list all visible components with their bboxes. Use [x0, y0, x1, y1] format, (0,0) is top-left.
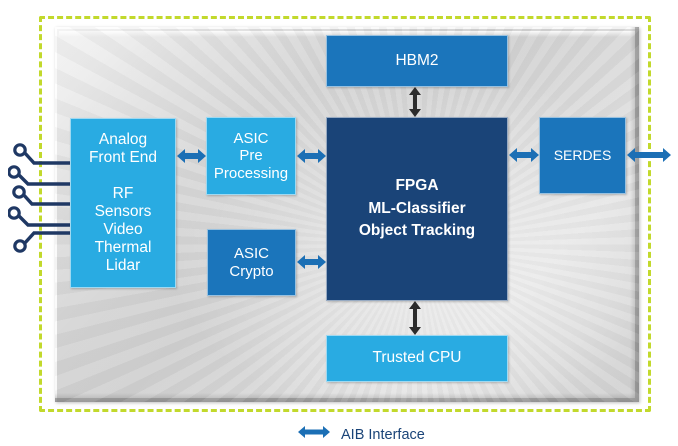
block-serdes[interactable]: SERDES [539, 117, 626, 194]
arrow-hbm2-to-fpga-icon [407, 86, 423, 118]
block-label-trusted-cpu: Trusted CPU [372, 349, 461, 367]
block-label-hbm2: HBM2 [395, 52, 438, 70]
block-label-analog-front-end: Analog Front End RF Sensors Video Therma… [87, 131, 159, 276]
block-trusted-cpu[interactable]: Trusted CPU [326, 335, 508, 382]
block-analog-front-end[interactable]: Analog Front End RF Sensors Video Therma… [70, 118, 176, 288]
diagram-canvas: Analog Front End RF Sensors Video Therma… [0, 0, 678, 446]
block-asic-pre-processing[interactable]: ASIC Pre Processing [206, 117, 296, 195]
block-label-serdes: SERDES [554, 147, 612, 163]
legend-double-arrow-icon [297, 424, 331, 445]
legend: AIB Interface [297, 424, 425, 445]
aib-arrow-asic-pre-to-fpga-icon [296, 145, 327, 167]
block-asic-crypto[interactable]: ASIC Crypto [207, 229, 296, 296]
arrow-fpga-to-trusted-cpu-icon [407, 300, 423, 336]
aib-arrow-afe-to-asic-pre-icon [176, 145, 207, 167]
block-hbm2[interactable]: HBM2 [326, 35, 508, 87]
block-label-asic-crypto: ASIC Crypto [229, 245, 273, 280]
block-label-fpga: FPGA ML-Classifier Object Tracking [359, 175, 475, 242]
legend-label: AIB Interface [341, 427, 425, 443]
package-right-bevel [630, 27, 639, 402]
aib-arrow-asic-crypto-to-fpga-icon [296, 251, 327, 273]
aib-arrow-serdes-to-external-icon [626, 144, 672, 166]
block-fpga[interactable]: FPGA ML-Classifier Object Tracking [326, 117, 508, 301]
aib-arrow-fpga-to-serdes-icon [508, 144, 540, 166]
package-bottom-bevel [55, 393, 639, 402]
block-label-asic-pre-processing: ASIC Pre Processing [214, 130, 288, 183]
